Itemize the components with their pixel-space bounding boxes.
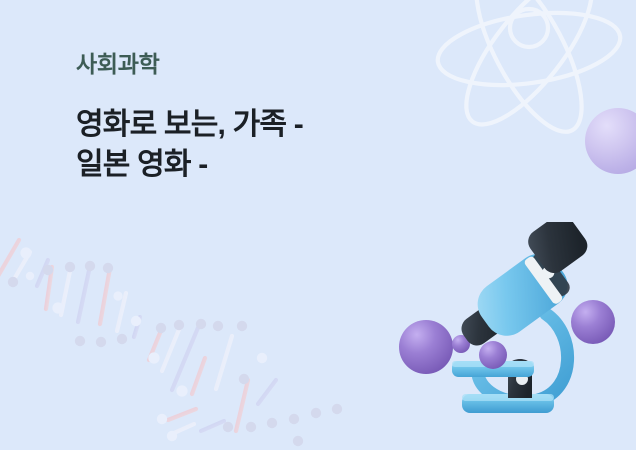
purple-sphere-decoration [585,108,636,174]
text-block: 사회과학 영화로 보는, 가족 - 일본 영화 - [76,50,496,185]
purple-sphere-stage [479,341,507,369]
page-title: 영화로 보는, 가족 - 일본 영화 - [76,105,496,185]
microscope-illustration [398,222,636,450]
dna-helix-icon [0,236,366,450]
purple-sphere-large-left [399,320,453,374]
purple-sphere-right [571,300,615,344]
course-card: 사회과학 영화로 보는, 가족 - 일본 영화 - [0,0,636,450]
category-label: 사회과학 [76,50,496,79]
